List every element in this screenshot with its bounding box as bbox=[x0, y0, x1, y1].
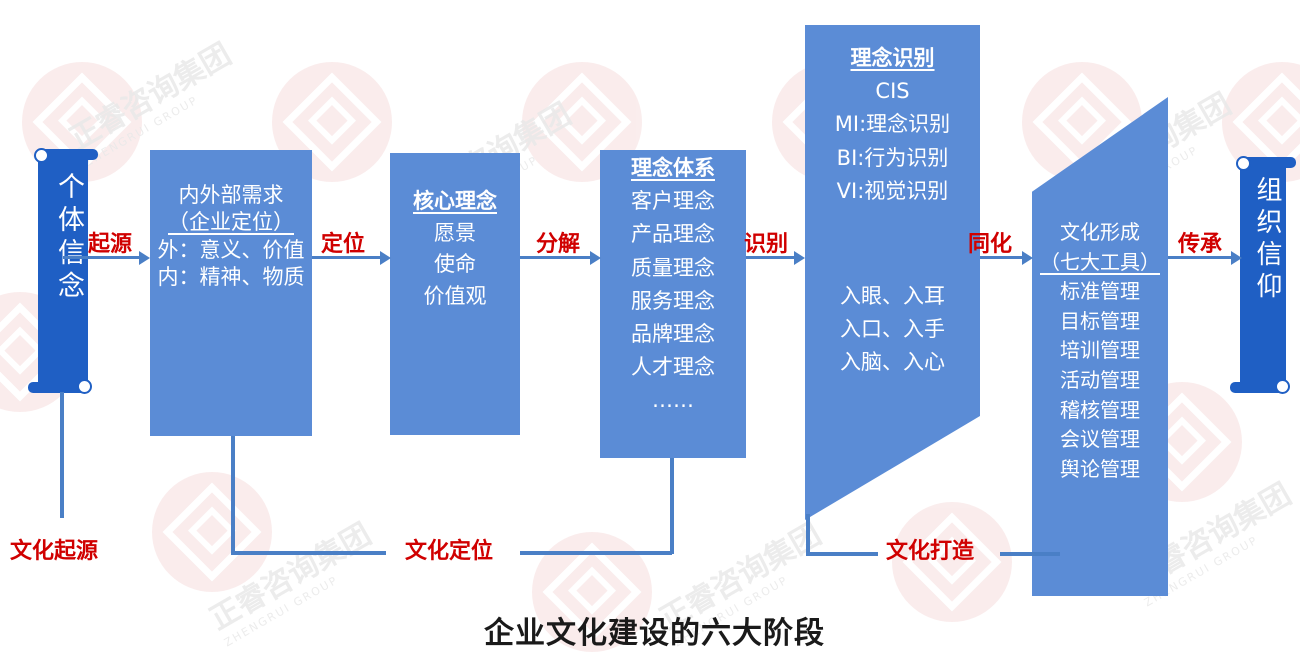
stage-2-item: 外：意义、价值 bbox=[150, 237, 312, 264]
arrow-label-inheritance: 传承 bbox=[1178, 226, 1222, 258]
phase-line-build-horz-2 bbox=[1000, 552, 1060, 556]
stage-5-head: 理念识别 bbox=[805, 42, 980, 75]
arrow-label-origin: 起源 bbox=[88, 226, 132, 258]
phase-line-build-vert bbox=[806, 514, 810, 556]
stage-4-item: 客户理念 bbox=[600, 185, 746, 218]
watermark-sublabel: ZHENGRUI GROUP bbox=[222, 548, 384, 649]
stage-5-item2: 入眼、入耳 bbox=[805, 280, 980, 313]
arrow-label-identify: 识别 bbox=[744, 226, 788, 258]
stage-5-item: BI:行为识别 bbox=[805, 142, 980, 175]
arrow-head-1 bbox=[139, 251, 150, 265]
stage-1-individual-belief[interactable]: 个体信念 bbox=[38, 158, 88, 384]
stage-3-item: 价值观 bbox=[390, 281, 520, 313]
stage-2-item: 内：精神、物质 bbox=[150, 264, 312, 291]
stage-4-item: 服务理念 bbox=[600, 285, 746, 318]
stage-4-head: 理念体系 bbox=[600, 152, 746, 185]
scroll-curl-icon bbox=[34, 148, 49, 163]
watermark-logo-icon bbox=[152, 472, 272, 592]
watermark-text: 正睿咨询集团 ZHENGRUI GROUP bbox=[200, 510, 384, 649]
stage-6-item: 会议管理 bbox=[1024, 425, 1176, 455]
phase-line-positioning-vert bbox=[231, 436, 235, 554]
phase-line-build-horz bbox=[806, 552, 878, 556]
arrow-head-5 bbox=[1022, 251, 1033, 265]
diagram-canvas: 正睿咨询集团 ZHENGRUI GROUP 正睿咨询集团 ZHENGRUI GR… bbox=[0, 0, 1300, 664]
arrow-head-6 bbox=[1231, 251, 1242, 265]
stage-5-item: CIS bbox=[805, 75, 980, 108]
arrow-label-positioning: 定位 bbox=[321, 226, 365, 258]
stage-4-item: 质量理念 bbox=[600, 252, 746, 285]
stage-3-item: 愿景 bbox=[390, 218, 520, 250]
stage-5-text-group2: 入眼、入耳 入口、入手 入脑、入心 bbox=[805, 280, 980, 380]
stage-4-item: 人才理念 bbox=[600, 351, 746, 384]
stage-7-organizational-faith[interactable]: 组织信仰 bbox=[1240, 166, 1286, 384]
stage-4-text: 理念体系 客户理念 产品理念 质量理念 服务理念 品牌理念 人才理念 …… bbox=[600, 152, 746, 417]
stage-3-text: 核心理念 愿景 使命 价值观 bbox=[390, 186, 520, 312]
stage-6-item: 稽核管理 bbox=[1024, 396, 1176, 426]
stage-3-item: 使命 bbox=[390, 249, 520, 281]
phase-label-culture-origin: 文化起源 bbox=[10, 533, 98, 565]
stage-2-text: 内外部需求 （企业定位） 外：意义、价值 内：精神、物质 bbox=[150, 182, 312, 291]
stage-4-item: 品牌理念 bbox=[600, 318, 746, 351]
scroll-curl-icon bbox=[1236, 156, 1251, 171]
stage-5-item2: 入脑、入心 bbox=[805, 346, 980, 379]
stage-2-head-line2: （企业定位） bbox=[150, 209, 312, 236]
stage-1-label: 个体信念 bbox=[38, 172, 88, 304]
stage-5-item: VI:视觉识别 bbox=[805, 175, 980, 208]
arrow-head-4 bbox=[794, 251, 805, 265]
stage-7-label: 组织信仰 bbox=[1240, 176, 1286, 304]
arrow-label-assimilate: 同化 bbox=[968, 226, 1012, 258]
stage-6-item: 目标管理 bbox=[1024, 307, 1176, 337]
stage-6-head-line1: 文化形成 bbox=[1024, 218, 1176, 248]
stage-5-text: 理念识别 CIS MI:理念识别 BI:行为识别 VI:视觉识别 bbox=[805, 42, 980, 208]
stage-6-item: 活动管理 bbox=[1024, 366, 1176, 396]
phase-line-origin bbox=[60, 392, 64, 518]
stage-6-item: 标准管理 bbox=[1024, 277, 1176, 307]
phase-label-culture-build: 文化打造 bbox=[886, 533, 974, 565]
scroll-curl-icon bbox=[77, 379, 92, 394]
stage-5-item: MI:理念识别 bbox=[805, 108, 980, 141]
arrow-head-3 bbox=[590, 251, 601, 265]
watermark-label: 正睿咨询集团 bbox=[64, 37, 237, 157]
stage-6-item: 培训管理 bbox=[1024, 336, 1176, 366]
stage-2-head-line1: 内外部需求 bbox=[150, 182, 312, 209]
stage-4-item: …… bbox=[600, 384, 746, 417]
stage-6-item: 舆论管理 bbox=[1024, 455, 1176, 485]
watermark-label: 正睿咨询集团 bbox=[204, 517, 377, 637]
phase-label-culture-positioning: 文化定位 bbox=[405, 533, 493, 565]
phase-line-positioning-horz-2 bbox=[520, 551, 672, 555]
stage-6-text: 文化形成 （七大工具） 标准管理 目标管理 培训管理 活动管理 稽核管理 会议管… bbox=[1024, 218, 1176, 484]
stage-5-item2: 入口、入手 bbox=[805, 313, 980, 346]
stage-6-head-line2: （七大工具） bbox=[1024, 248, 1176, 278]
stage-3-head: 核心理念 bbox=[390, 186, 520, 218]
phase-line-positioning-vert-2 bbox=[670, 458, 674, 554]
phase-line-positioning-horz bbox=[231, 551, 386, 555]
arrow-head-2 bbox=[380, 251, 391, 265]
arrow-label-decompose: 分解 bbox=[536, 226, 580, 258]
scroll-curl-icon bbox=[1275, 379, 1290, 394]
diagram-title: 企业文化建设的六大阶段 bbox=[484, 608, 825, 652]
stage-4-item: 产品理念 bbox=[600, 218, 746, 251]
